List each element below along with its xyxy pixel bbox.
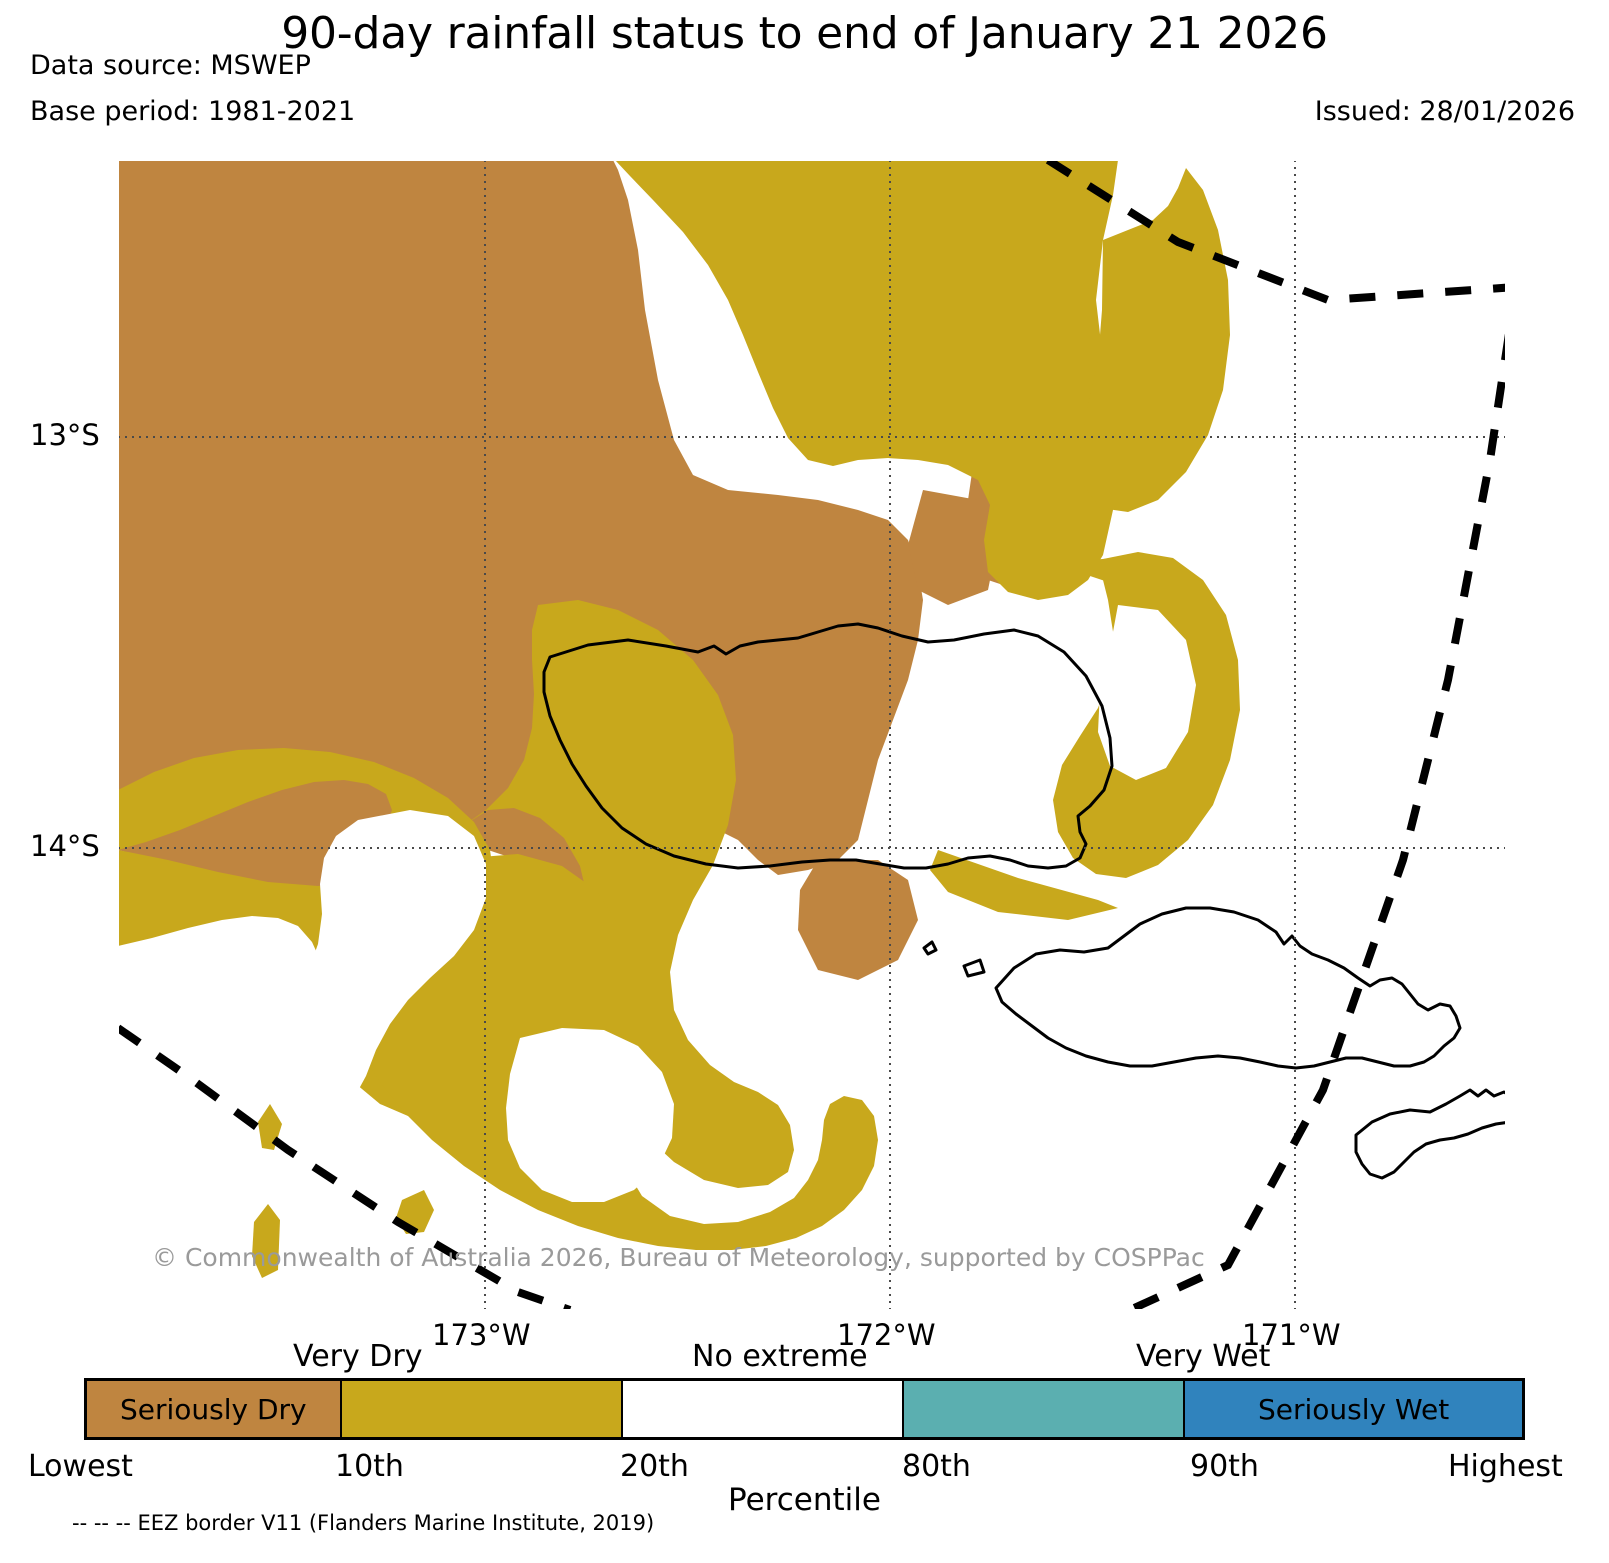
colorbar-segment-no-extreme[interactable] [621,1381,902,1437]
colorbar-segment-label: Seriously Dry [120,1393,307,1426]
colorbar-segment-very-wet[interactable] [902,1381,1183,1437]
colorbar-segment-seriously-dry[interactable]: Seriously Dry [87,1381,340,1437]
colorbar-segment-label: Seriously Wet [1258,1393,1449,1426]
map-canvas [118,160,1506,1310]
colorbar-segment-seriously-wet[interactable]: Seriously Wet [1183,1381,1522,1437]
eez-border-note: -- -- -- EEZ border V11 (Flanders Marine… [72,1511,654,1535]
copyright-notice: © Commonwealth of Australia 2026, Bureau… [152,1243,1205,1272]
colorbar-tick-20th: 20th [620,1449,689,1484]
colorbar-tick-highest: Highest [1448,1449,1563,1484]
legend-label-very-dry: Very Dry [293,1339,422,1374]
legend-label-no-extreme: No extreme [692,1339,868,1374]
colorbar-tick-10th: 10th [335,1449,404,1484]
lat-label-14s: 14°S [30,829,100,863]
colorbar-tick-80th: 80th [902,1449,971,1484]
percentile-colorbar[interactable]: Seriously Dry Seriously Wet [84,1378,1525,1440]
legend-label-very-wet: Very Wet [1136,1339,1270,1374]
colorbar-tick-90th: 90th [1190,1449,1259,1484]
lat-label-13s: 13°S [30,418,100,452]
rainfall-map [118,160,1506,1310]
data-source-label: Data source: MSWEP [30,50,311,81]
issued-label: Issued: 28/01/2026 [1315,96,1575,127]
colorbar-tick-lowest: Lowest [28,1449,133,1484]
base-period-label: Base period: 1981-2021 [30,96,355,127]
lon-label-173w: 173°W [432,1318,531,1352]
colorbar-segment-very-dry[interactable] [340,1381,621,1437]
